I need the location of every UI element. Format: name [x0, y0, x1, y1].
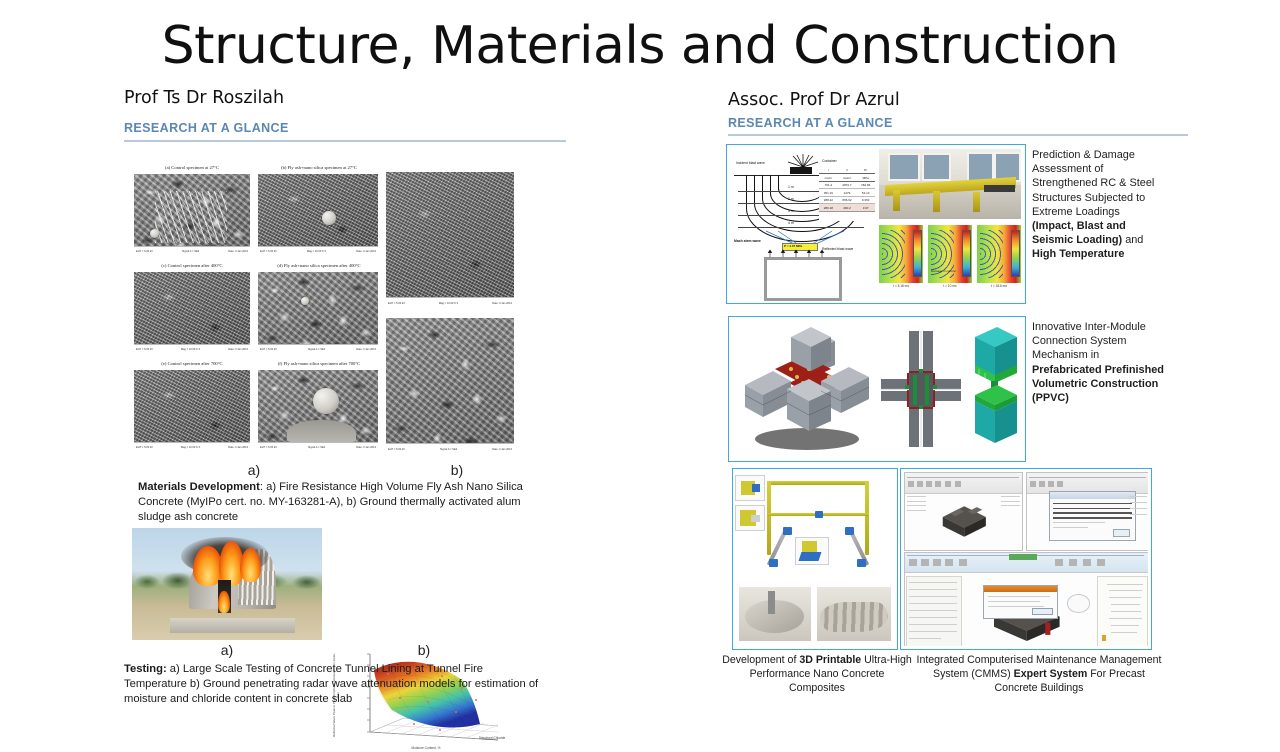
sem-image-f: EHT = 5.00 kV Signal A = SE2 Date: 3 Jan…	[258, 370, 378, 454]
radius-label-4: 4 m	[788, 221, 794, 225]
cell: 866.62	[838, 198, 857, 202]
surface-zlabel: Dissolved Chloride	[470, 736, 514, 740]
cell: 2872.7	[838, 183, 857, 187]
sem-label-e: (e) Control specimen after 700°C	[134, 362, 250, 367]
ppvc-graphics	[729, 317, 1025, 461]
sem-scale-bar: EHT = 5.00 kV Signal A = SE2 Date: 3 Jan…	[134, 246, 250, 258]
sem-date: Date: 3 Jan 2013	[228, 349, 248, 352]
sem-particle	[301, 297, 309, 305]
sem-mag: Mag = 10.00 K X	[307, 251, 326, 254]
bim-window-main	[904, 552, 1148, 646]
sem-image-e: EHT = 5.00 kV Mag = 10.00 K X Date: 3 Ja…	[134, 370, 250, 454]
sem-signal: Signal A = SE2	[308, 349, 325, 352]
sem-eht: EHT = 5.00 kV	[136, 447, 153, 450]
radius-line-4	[738, 227, 864, 228]
steel-beam-lab-photo	[879, 149, 1021, 219]
bim-alert-dialog	[983, 585, 1058, 619]
sem-label-b: (b) Fly ash+nano silica specimen at 27°C	[258, 166, 380, 171]
joint-detail-inset-1	[735, 475, 765, 501]
blast-text-plain-1: Prediction & Damage Assessment of Streng…	[1032, 149, 1154, 218]
caption-3d-printable: Development of 3D Printable Ultra-High P…	[722, 654, 912, 695]
fea-time-label-3: t = 16.6 ms	[977, 284, 1021, 288]
blast-text-bold-1: (Impact, Blast and Seismic Loading)	[1032, 220, 1126, 246]
volumetric-modules-3d	[965, 325, 1023, 453]
bim-ribbon-toolbar	[905, 553, 1148, 573]
blast-text-plain-2: and	[1122, 234, 1143, 246]
research-box-3dprint	[732, 468, 898, 650]
bim-3d-model-preview	[935, 499, 994, 540]
cell: 351.19	[819, 191, 838, 195]
fea-time-label-1: t = 5.18 ms	[879, 284, 923, 288]
3d-printer-gantry-model	[733, 469, 897, 583]
sem-eht: EHT = 5.00 kV	[388, 303, 405, 306]
left-person-name: Prof Ts Dr Roszilah	[124, 88, 284, 108]
caption-testing-bold: Testing:	[124, 663, 167, 675]
sem-eht: EHT = 5.00 kV	[260, 251, 277, 254]
sem-signal: Signal A = SE2	[440, 449, 457, 452]
sem-eht: EHT = 5.00 kV	[388, 449, 405, 452]
label-mach-stem: Mach stem wave	[734, 239, 761, 243]
fea-contour-3	[977, 225, 1021, 283]
sem-grid: (a) Control specimen at 27°C EHT = 5.00 …	[132, 166, 382, 466]
table-row: 761.4 2872.7 184.96	[819, 182, 875, 189]
gantry-left-column	[767, 481, 771, 555]
radius-label-2: 2 m	[788, 197, 794, 201]
table-row: 288.22 866.62 9.353	[819, 197, 875, 204]
unit-r: ms/m	[819, 176, 838, 180]
view-cube-navigation	[1067, 594, 1091, 613]
fea-color-legend	[962, 230, 971, 277]
sem-scale-bar: EHT = 5.00 kV Mag = 10.00 K X Date: 3 Ja…	[258, 246, 378, 258]
bim-properties-panel	[906, 576, 962, 646]
print-head-carriage	[815, 511, 823, 518]
cell: 52.13	[856, 191, 875, 195]
cell: 184.96	[856, 183, 875, 187]
strut-joint-left-top	[783, 527, 792, 535]
capcmms-bold: Expert System	[1014, 668, 1088, 680]
fea-contour-group: t = 5.18 ms t = 10 ms t = 16.6 ms Damage…	[879, 225, 1021, 299]
actuator-assembly	[984, 185, 1015, 192]
research-text-blast: Prediction & Damage Assessment of Streng…	[1032, 148, 1162, 261]
cell: 490.2	[838, 206, 857, 210]
tunnel-fire-test-photo	[132, 528, 322, 640]
connection-section-2d	[879, 329, 963, 449]
sem-date: Date: 3 Jan 2013	[228, 251, 248, 254]
strut-joint-right-bottom	[857, 559, 866, 567]
research-text-ppvc: Innovative Inter-Module Connection Syste…	[1032, 320, 1164, 405]
sem-eht: EHT = 5.00 kV	[136, 251, 153, 254]
sem-eht: EHT = 5.00 kV	[260, 349, 277, 352]
sem-signal: Signal A = SE2	[308, 447, 325, 450]
th-r: r	[819, 168, 838, 172]
caption-materials-development: Materials Development: a) Fire Resistanc…	[138, 480, 548, 525]
fea-color-legend	[913, 230, 922, 277]
sem-scale-bar: EHT = 5.00 kV Signal A = SE2 Date: 3 Jan…	[386, 443, 514, 458]
fea-contour-1	[879, 225, 923, 283]
sem-date: Date: 3 Jan 2013	[492, 449, 512, 452]
blast-text-bold-2: High Temperature	[1032, 248, 1124, 260]
detonation-burst-icon	[786, 153, 820, 169]
left-panel: Prof Ts Dr Roszilah RESEARCH AT A GLANCE…	[124, 88, 594, 708]
lab-window	[922, 153, 952, 181]
radius-label-1: 1 m	[788, 185, 794, 189]
sem-large-particle	[313, 388, 339, 414]
sem-date: Date: 3 Jan 2013	[356, 251, 376, 254]
sem-pair-right: EHT = 5.00 kV Mag = 10.00 K X Date: 3 Ja…	[386, 172, 514, 460]
cruciform-module-3d	[735, 323, 877, 455]
sem-smooth-phase	[287, 420, 357, 442]
sem-label-f: (f) Fly ash+nano silica specimen after 7…	[258, 362, 380, 367]
research-box-cmms	[900, 468, 1152, 650]
radius-label-3: 3 m	[788, 209, 794, 213]
needle-crystals	[155, 191, 227, 243]
lab-window	[888, 153, 920, 181]
bim-ribbon-toolbar	[905, 473, 1022, 494]
sem-mag: Mag = 10.00 K X	[439, 303, 458, 306]
sem-date: Date: 3 Jan 2013	[356, 447, 376, 450]
gantry-top-rail	[767, 481, 869, 485]
sem-image-h: EHT = 5.00 kV Signal A = SE2 Date: 3 Jan…	[386, 318, 514, 458]
sem-scale-bar: EHT = 5.00 kV Signal A = SE2 Date: 3 Jan…	[258, 344, 378, 356]
sem-scale-bar: EHT = 5.00 kV Signal A = SE2 Date: 3 Jan…	[258, 442, 378, 454]
sem-scale-bar: EHT = 5.00 kV Mag = 10.00 K X Date: 3 Ja…	[134, 442, 250, 454]
fea-color-legend	[1011, 230, 1020, 277]
figure-letter-a: a)	[199, 462, 309, 478]
research-box-ppvc	[728, 316, 1026, 462]
ppvc-text-bold: Prefabricated Prefinished Volumetric Con…	[1032, 364, 1164, 404]
cell: 288.22	[819, 198, 838, 202]
right-panel: Assoc. Prof Dr Azrul RESEARCH AT A GLANC…	[726, 90, 1196, 710]
right-section-header: RESEARCH AT A GLANCE	[728, 116, 893, 133]
unit-ir: ms/m²	[838, 176, 857, 180]
sem-eht: EHT = 5.00 kV	[260, 447, 277, 450]
caption-testing-text: a) Large Scale Testing of Concrete Tunne…	[124, 663, 538, 705]
bim-window-schedule	[1026, 472, 1148, 551]
beam-support-leg	[933, 191, 940, 212]
caption-materials-bold: Materials Development	[138, 481, 260, 493]
research-box-blast: Incident blast wave Container 1 m 2 m 3 …	[726, 144, 1026, 304]
surface-xlabel: Moisture Content, %	[386, 746, 466, 750]
3d-printed-wave-photo	[817, 587, 891, 641]
rc-frame-structure	[764, 257, 842, 301]
3d-printed-ring-photo	[739, 587, 811, 641]
sem-label-d: (d) Fly ash+nano silica specimen after 4…	[258, 264, 380, 269]
sem-label-a: (a) Control specimen at 27°C	[134, 166, 250, 171]
bim-project-tree	[1097, 576, 1148, 646]
sem-date: Date: 3 Jan 2013	[228, 447, 248, 450]
page-title: Structure, Materials and Construction	[0, 16, 1280, 76]
table-row-highlighted: 280.18 490.2 3.97	[819, 204, 875, 211]
label-peak-pressure: P = 4.07 MPa	[784, 244, 802, 248]
concrete-base	[170, 618, 295, 634]
fea-time-label-2: t = 10 ms	[928, 284, 972, 288]
unit-pr: MPa	[856, 176, 875, 180]
sem-date: Date: 3 Jan 2013	[356, 349, 376, 352]
table-units-row: ms/m ms/m² MPa	[819, 174, 875, 181]
sem-scale-bar: EHT = 5.00 kV Mag = 10.00 K X Date: 3 Ja…	[386, 297, 514, 312]
sem-image-c: EHT = 5.00 kV Mag = 10.00 K X Date: 3 Ja…	[134, 272, 250, 356]
print-nozzle	[768, 591, 775, 614]
cell: 280.18	[819, 206, 838, 210]
cap3d-pre: Development of	[722, 654, 799, 666]
left-header-rule	[124, 140, 566, 142]
th-ir: ir	[838, 168, 857, 172]
flame-in-opening	[218, 591, 229, 613]
table-row: 351.19 1279 52.13	[819, 189, 875, 196]
stress-wave-contours	[980, 230, 1003, 279]
slide-root: Structure, Materials and Construction Pr…	[0, 0, 1280, 720]
figure-letter-b2: b)	[369, 642, 479, 658]
printed-wave-element	[820, 602, 888, 632]
sem-image-d: EHT = 5.00 kV Signal A = SE2 Date: 3 Jan…	[258, 272, 378, 356]
right-header-rule	[728, 134, 1188, 136]
sem-signal: Signal A = SE2	[182, 251, 199, 254]
sem-image-g: EHT = 5.00 kV Mag = 10.00 K X Date: 3 Ja…	[386, 172, 514, 312]
beam-support-leg	[893, 190, 900, 211]
joint-detail-inset-2	[735, 505, 765, 531]
cell: 3.97	[856, 206, 875, 210]
sem-date: Date: 3 Jan 2013	[492, 303, 512, 306]
sem-mag: Mag = 10.00 K X	[181, 447, 200, 450]
beam-support-leg	[973, 192, 980, 212]
cell: 9.353	[856, 198, 875, 202]
sem-image-b: EHT = 5.00 kV Mag = 10.00 K X Date: 3 Ja…	[258, 174, 378, 258]
sem-mag: Mag = 10.00 K X	[181, 349, 200, 352]
caption-cmms: Integrated Computerised Maintenance Mana…	[914, 654, 1164, 695]
caption-testing: Testing: a) Large Scale Testing of Concr…	[124, 662, 548, 707]
bim-software-screens	[904, 472, 1148, 646]
sem-particle	[322, 211, 336, 225]
sem-label-c: (c) Control specimen after 400°C	[134, 264, 250, 269]
cap3d-bold: 3D Printable	[799, 654, 861, 666]
bim-schedule-dialog	[1049, 491, 1136, 540]
figure-letter-a2: a)	[172, 642, 282, 658]
bim-window-model	[904, 472, 1023, 551]
ppvc-text-plain: Innovative Inter-Module Connection Syste…	[1032, 321, 1146, 361]
cell: 761.4	[819, 183, 838, 187]
th-pr: Pr	[856, 168, 875, 172]
stress-wave-contours	[882, 230, 905, 279]
gantry-right-column	[865, 481, 869, 555]
sem-scale-bar: EHT = 5.00 kV Mag = 10.00 K X Date: 3 Ja…	[134, 344, 250, 356]
fea-contour-2	[928, 225, 972, 283]
label-container: Container	[822, 159, 837, 163]
strut-joint-left-bottom	[769, 559, 778, 567]
label-incident-wave: Incident blast wave	[736, 161, 765, 165]
fea-damage-note: Damage in column	[931, 269, 956, 273]
blast-parameters-table: r ir Pr ms/m ms/m² MPa 761.4 2872.7 184.…	[819, 167, 875, 221]
sem-eht: EHT = 5.00 kV	[136, 349, 153, 352]
sem-image-a: EHT = 5.00 kV Signal A = SE2 Date: 3 Jan…	[134, 174, 250, 258]
figure-letter-b: b)	[402, 462, 512, 478]
table-header-row: r ir Pr	[819, 167, 875, 174]
left-section-header: RESEARCH AT A GLANCE	[124, 121, 289, 138]
right-person-name: Assoc. Prof Dr Azrul	[728, 90, 900, 110]
nozzle-detail-inset	[795, 537, 829, 565]
cell: 1279	[838, 191, 857, 195]
strut-joint-right-top	[845, 527, 854, 535]
